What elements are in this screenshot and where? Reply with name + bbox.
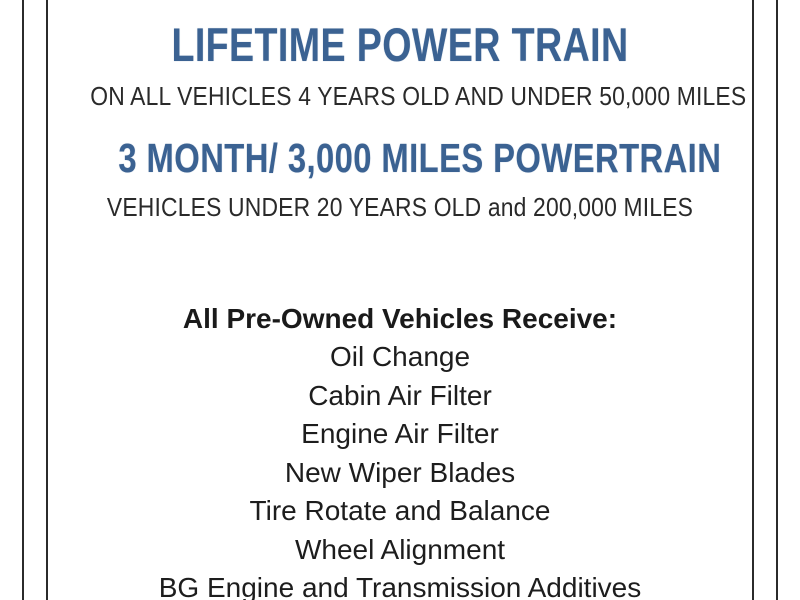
flyer-content: LIFETIME POWER TRAIN ON ALL VEHICLES 4 Y… [48, 0, 752, 600]
service-item: New Wiper Blades [48, 454, 752, 493]
offer-subhead-lifetime-powertrain: ON ALL VEHICLES 4 YEARS OLD AND UNDER 50… [90, 82, 710, 111]
offer-headline-lifetime-powertrain: LIFETIME POWER TRAIN [118, 21, 681, 68]
border-rule-left-outer [22, 0, 24, 600]
service-item: Tire Rotate and Balance [48, 492, 752, 531]
service-item: Engine Air Filter [48, 415, 752, 454]
border-rule-right-outer [776, 0, 778, 600]
services-section: All Pre-Owned Vehicles Receive: Oil Chan… [48, 300, 752, 600]
offer-headline-3month-powertrain: 3 MONTH/ 3,000 MILES POWERTRAIN [118, 138, 681, 179]
service-item: Oil Change [48, 338, 752, 377]
service-item: Wheel Alignment [48, 531, 752, 570]
offer-subhead-3month-powertrain: VEHICLES UNDER 20 YEARS OLD and 200,000 … [90, 193, 710, 222]
services-title: All Pre-Owned Vehicles Receive: [48, 300, 752, 338]
service-item: BG Engine and Transmission Additives [48, 569, 752, 600]
border-rule-right-inner [752, 0, 754, 600]
flyer-canvas: LIFETIME POWER TRAIN ON ALL VEHICLES 4 Y… [0, 0, 800, 600]
service-item: Cabin Air Filter [48, 377, 752, 416]
